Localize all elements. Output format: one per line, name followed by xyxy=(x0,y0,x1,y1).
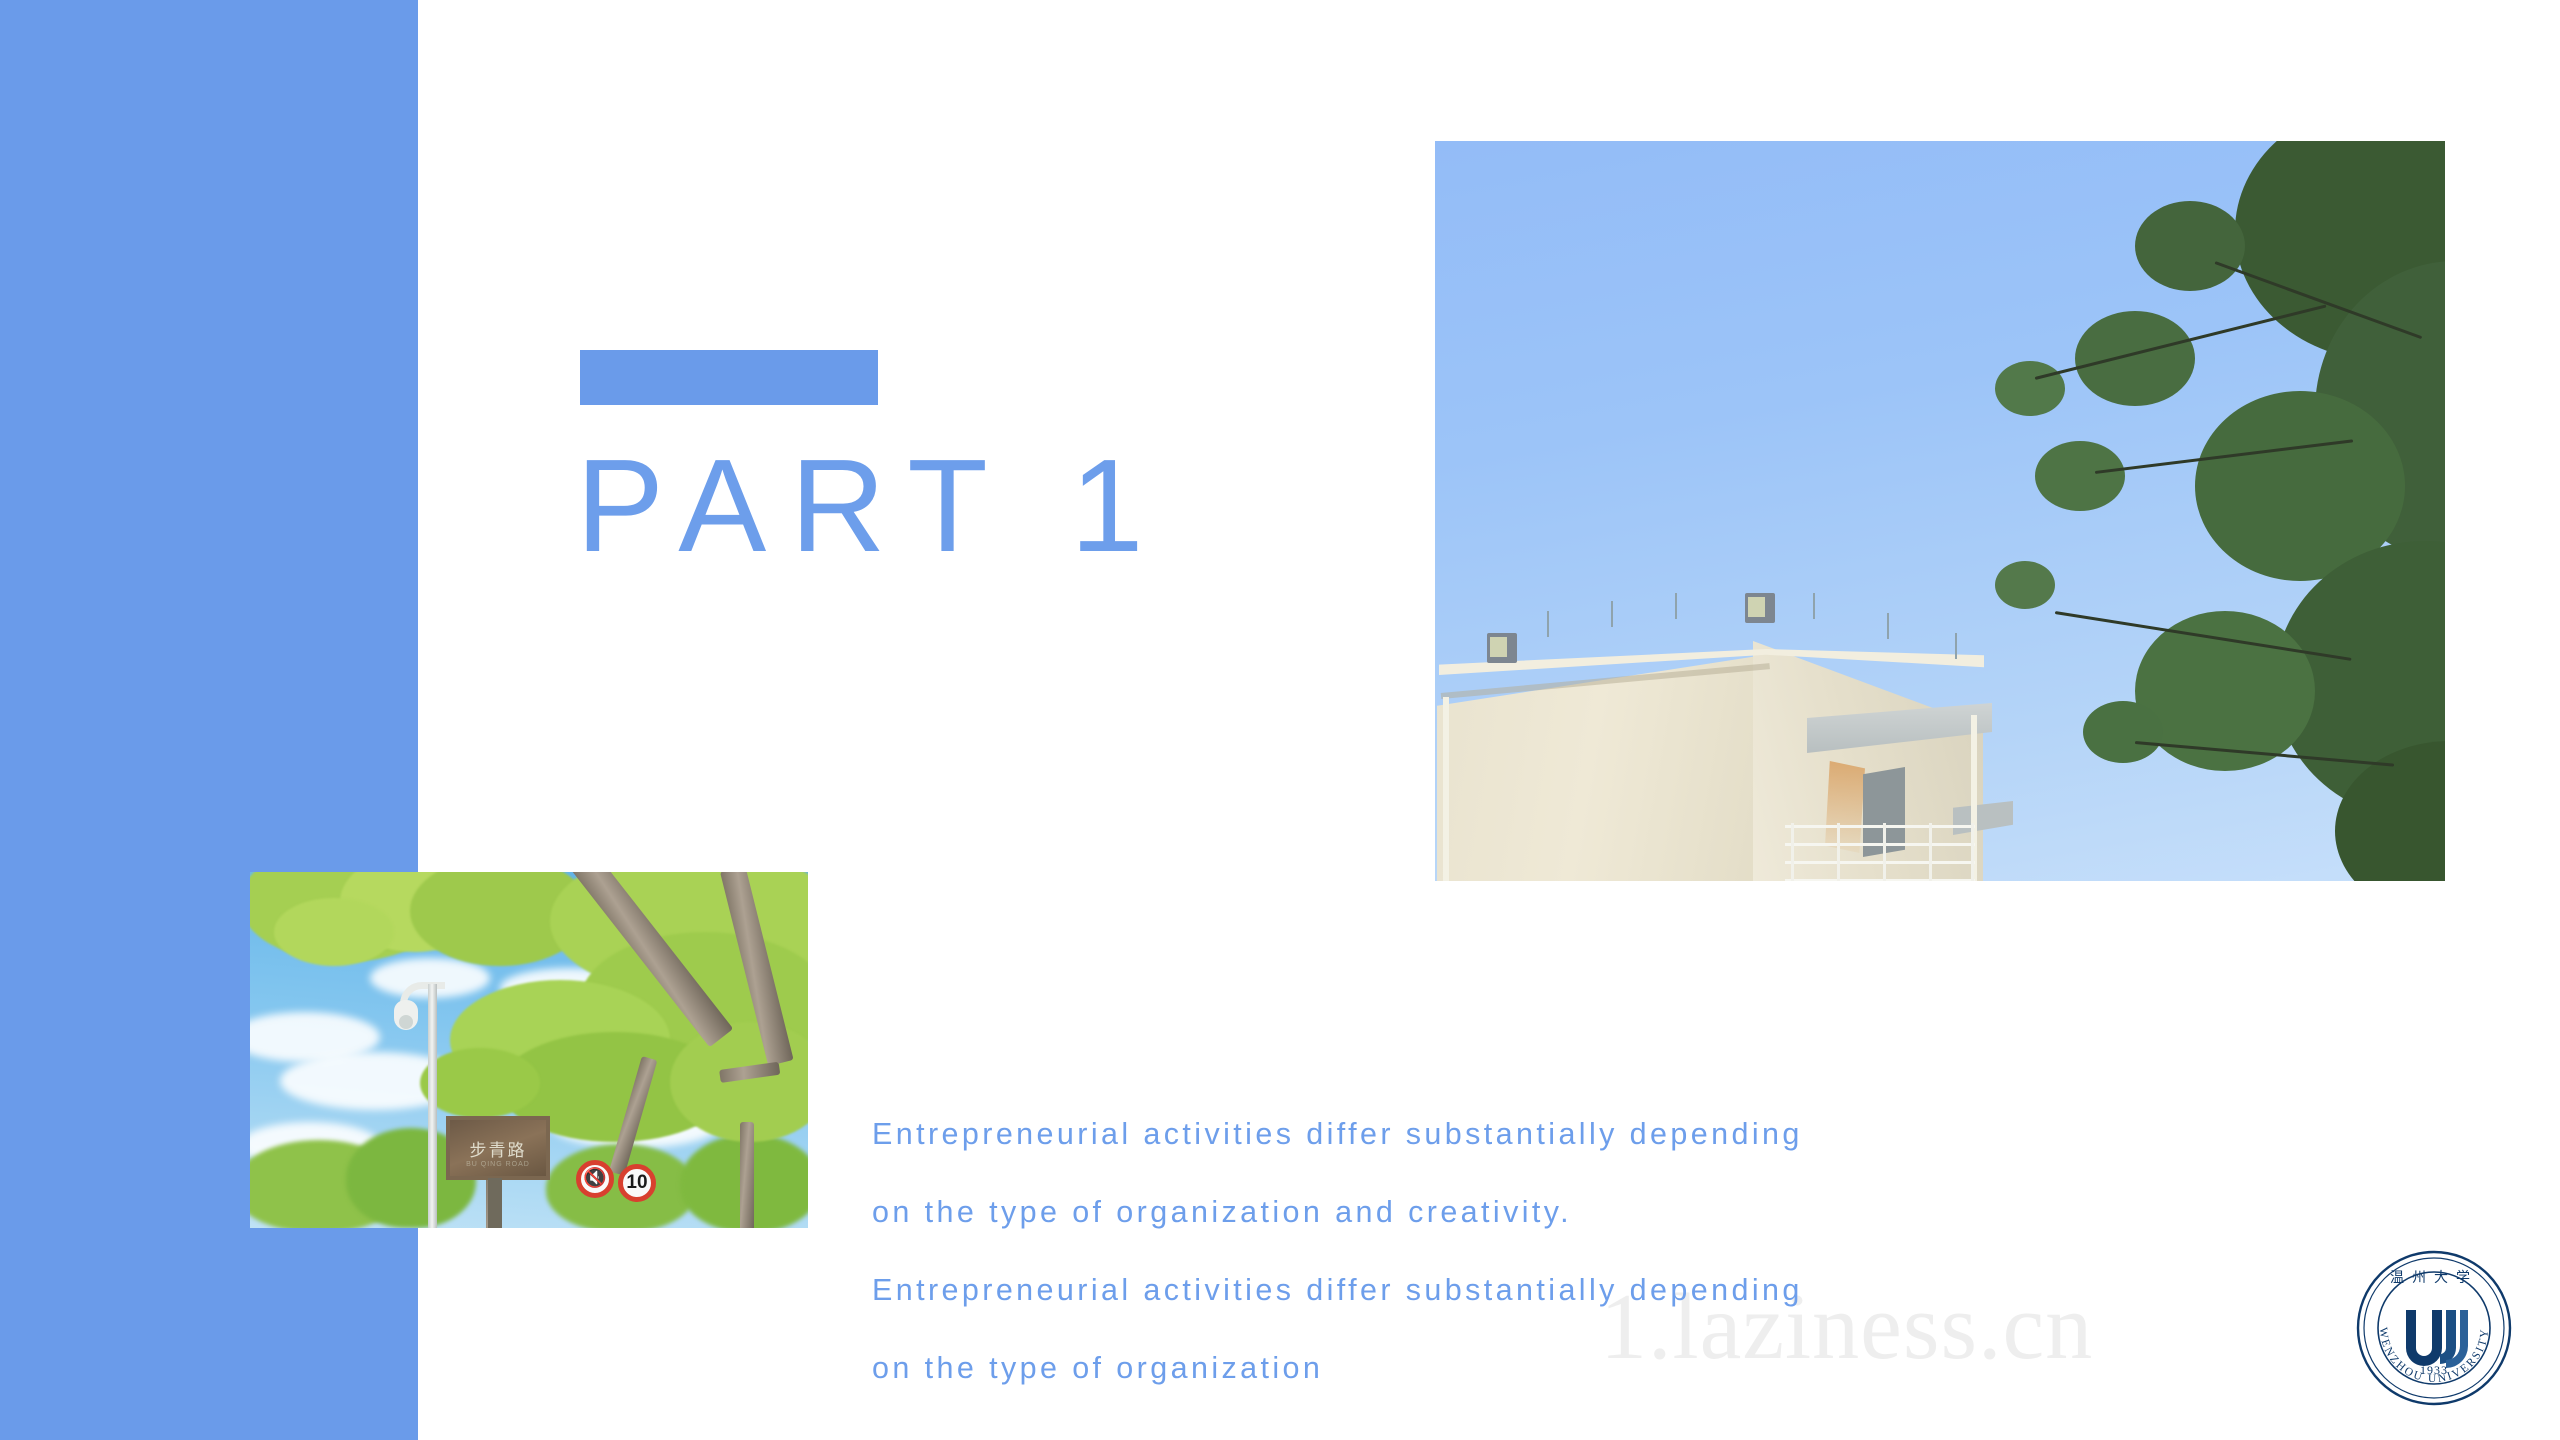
university-logo: WENZHOU UNIVERSITY 温州大学 1933 xyxy=(2354,1248,2514,1408)
logo-founded-year: 1933 xyxy=(2420,1363,2448,1377)
foliage-cluster xyxy=(2135,201,2245,291)
body-line: Entrepreneurial activities differ substa… xyxy=(872,1095,2512,1173)
foliage-cluster xyxy=(2035,441,2125,511)
logo-monogram-u2 xyxy=(2440,1310,2456,1364)
logo-arc-text-top: 温州大学 xyxy=(2390,1270,2478,1286)
foliage-cluster xyxy=(2135,611,2315,771)
roof-antenna xyxy=(1547,611,1549,637)
roof-antenna xyxy=(1955,633,1957,659)
logo-monogram-u1 xyxy=(2406,1310,2442,1366)
foliage-cluster xyxy=(1995,361,2065,416)
body-paragraph: Entrepreneurial activities differ substa… xyxy=(872,1095,2512,1407)
ginkgo-canopy xyxy=(274,898,394,966)
no-horn-sign: 🔇 xyxy=(576,1160,614,1198)
title-accent-bar xyxy=(580,350,878,405)
slide-canvas: PART 1 xyxy=(0,0,2560,1440)
foliage-cluster xyxy=(2075,311,2195,406)
body-line: on the type of organization and creativi… xyxy=(872,1173,2512,1251)
roof-antenna xyxy=(1887,613,1889,639)
tree-trunk xyxy=(740,1122,754,1228)
body-line: on the type of organization xyxy=(872,1329,2512,1407)
building-facade-left xyxy=(1437,653,1777,881)
lamp-post xyxy=(428,984,437,1228)
page-title: PART 1 xyxy=(576,440,1168,572)
roof-antenna xyxy=(1611,601,1613,627)
floodlight-icon xyxy=(1487,633,1517,663)
balcony-railing xyxy=(1785,823,1975,881)
photo-building-sky xyxy=(1435,141,2445,881)
roof-antenna xyxy=(1813,593,1815,619)
security-camera-icon xyxy=(394,1000,418,1030)
road-name-zh: 步青路 xyxy=(450,1136,546,1161)
body-line: Entrepreneurial activities differ substa… xyxy=(872,1251,2512,1329)
roof-antenna xyxy=(1675,593,1677,619)
sign-post xyxy=(488,1178,502,1228)
foliage-cluster xyxy=(1995,561,2055,609)
floodlight-icon xyxy=(1745,593,1775,623)
road-name-en: BU QING ROAD xyxy=(450,1161,546,1168)
drainpipe xyxy=(1443,697,1449,881)
foliage-cluster xyxy=(2083,701,2163,763)
speed-limit-sign: 10 xyxy=(618,1164,656,1202)
ginkgo-canopy xyxy=(420,1048,540,1118)
photo-campus-road: 步青路 BU QING ROAD 🔇 10 xyxy=(250,872,808,1228)
road-name-sign: 步青路 BU QING ROAD xyxy=(446,1116,550,1180)
